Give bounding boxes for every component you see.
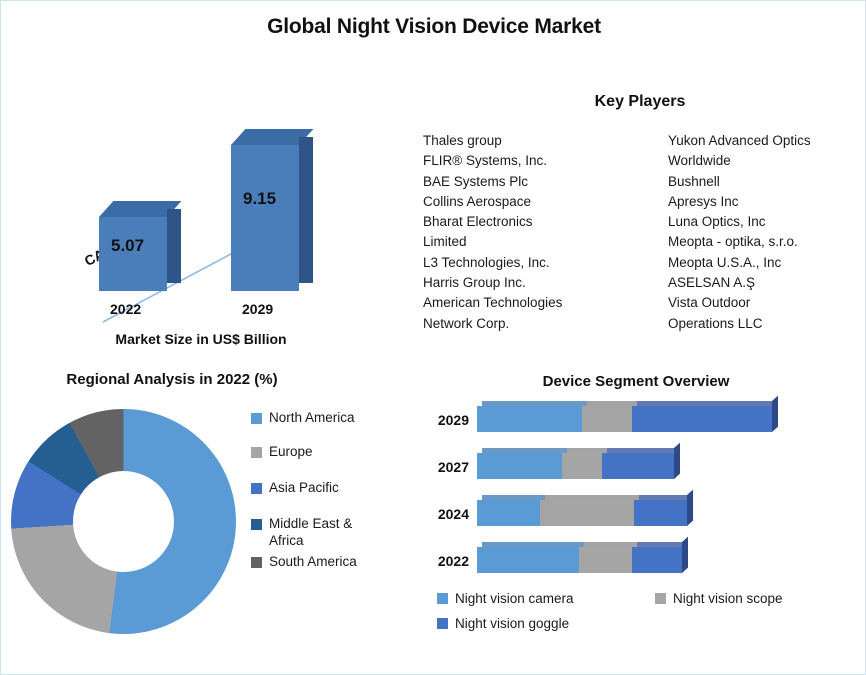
segment-camera (477, 406, 582, 432)
market-size-chart: CAGR 8.8% 5.07 2022 9.15 2029 (1, 111, 401, 361)
infographic-root: Global Night Vision Device Market CAGR 8… (0, 0, 866, 675)
legend-item-europe: Europe (251, 443, 411, 460)
regional-legend: North America Europe Asia Pacific Middle… (251, 409, 411, 587)
key-player-item: Bharat Electronics (423, 212, 622, 232)
key-player-item: Limited (423, 232, 622, 252)
legend-item-night-vision-goggle: Night vision goggle (437, 616, 655, 631)
segment-goggle (632, 547, 682, 573)
segment-front-face (477, 547, 579, 573)
legend-label: North America (269, 409, 355, 426)
segment-scope (540, 500, 634, 526)
bar-2022-year: 2022 (110, 301, 141, 317)
legend-swatch-icon (437, 618, 448, 629)
segment-camera (477, 547, 579, 573)
bar-2029 (231, 129, 299, 291)
legend-swatch-icon (251, 447, 262, 458)
donut-hole (73, 471, 174, 572)
segment-year-label: 2022 (409, 553, 469, 569)
segment-year-label: 2027 (409, 459, 469, 475)
legend-item-night-vision-camera: Night vision camera (437, 591, 655, 606)
legend-item-south-america: South America (251, 553, 411, 570)
key-player-item: FLIR® Systems, Inc. (423, 151, 622, 171)
segment-scope (582, 406, 632, 432)
segment-front-face (632, 406, 772, 432)
legend-swatch-icon (251, 413, 262, 424)
segment-bar-2027 (477, 453, 674, 479)
key-player-item: Meopta - optika, s.r.o. (668, 232, 866, 252)
legend-swatch-icon (251, 519, 262, 530)
key-player-item: Worldwide (668, 151, 866, 171)
legend-label: Middle East & Africa (269, 515, 389, 549)
legend-swatch-icon (251, 483, 262, 494)
key-player-item: Yukon Advanced Optics (668, 131, 866, 151)
segment-front-face (634, 500, 687, 526)
regional-donut-chart (11, 409, 251, 649)
segment-front-face (477, 500, 540, 526)
key-player-item: Meopta U.S.A., Inc (668, 253, 866, 273)
key-player-item: BAE Systems Plc (423, 172, 622, 192)
legend-label: Night vision goggle (455, 616, 569, 631)
segment-bar-2029 (477, 406, 772, 432)
segment-side-face (772, 396, 778, 432)
key-players-title: Key Players (413, 93, 866, 111)
segment-front-face (602, 453, 674, 479)
segment-goggle (634, 500, 687, 526)
bar-2029-side (299, 137, 313, 283)
key-player-item: L3 Technologies, Inc. (423, 253, 622, 273)
legend-label: Asia Pacific (269, 479, 339, 496)
segment-goggle (632, 406, 772, 432)
key-player-item: ASELSAN A.Ş (668, 273, 866, 293)
segment-legend-row: Night vision camera Night vision scope (437, 591, 866, 606)
key-player-item: Network Corp. (423, 314, 622, 334)
legend-swatch-icon (655, 593, 666, 604)
key-player-item: Bushnell (668, 172, 866, 192)
segment-bar-2022 (477, 547, 682, 573)
device-segment-title: Device Segment Overview (411, 373, 861, 390)
segment-camera (477, 500, 540, 526)
key-player-item: Luna Optics, Inc (668, 212, 866, 232)
segment-scope (562, 453, 602, 479)
segment-front-face (582, 406, 632, 432)
key-player-item: American Technologies (423, 293, 622, 313)
segment-goggle (602, 453, 674, 479)
market-size-caption: Market Size in US$ Billion (1, 331, 401, 347)
bar-2022-side (167, 209, 181, 283)
key-players-columns: Thales group FLIR® Systems, Inc. BAE Sys… (421, 131, 866, 334)
legend-label: Night vision camera (455, 591, 574, 606)
legend-label: Night vision scope (673, 591, 783, 606)
legend-item-asia-pacific: Asia Pacific (251, 479, 411, 496)
bar-2022-value: 5.07 (111, 236, 144, 256)
segment-camera (477, 453, 562, 479)
segment-year-label: 2029 (409, 412, 469, 428)
bar-2029-face (231, 145, 299, 291)
segment-front-face (562, 453, 602, 479)
legend-item-night-vision-scope: Night vision scope (655, 591, 783, 606)
segment-bar-2024 (477, 500, 687, 526)
key-player-item: Collins Aerospace (423, 192, 622, 212)
segment-side-face (674, 443, 680, 479)
device-segment-chart: 2029 2027 (405, 406, 865, 591)
regional-analysis-title: Regional Analysis in 2022 (%) (7, 371, 337, 388)
legend-label: South America (269, 553, 357, 570)
key-player-item: Harris Group Inc. (423, 273, 622, 293)
device-segment-legend: Night vision camera Night vision scope N… (437, 591, 866, 641)
segment-front-face (477, 453, 562, 479)
bar-2029-value: 9.15 (243, 189, 276, 209)
segment-front-face (477, 406, 582, 432)
key-player-item: Operations LLC (668, 314, 866, 334)
segment-side-face (687, 490, 693, 526)
legend-item-middle-east-africa: Middle East & Africa (251, 515, 411, 549)
page-title: Global Night Vision Device Market (1, 15, 866, 39)
bar-2029-year: 2029 (242, 301, 273, 317)
key-player-item: Vista Outdoor (668, 293, 866, 313)
segment-year-label: 2024 (409, 506, 469, 522)
legend-item-north-america: North America (251, 409, 411, 426)
segment-front-face (540, 500, 634, 526)
legend-label: Europe (269, 443, 313, 460)
key-player-item: Apresys Inc (668, 192, 866, 212)
legend-swatch-icon (251, 557, 262, 568)
segment-legend-row: Night vision goggle (437, 616, 866, 631)
key-player-item: Thales group (423, 131, 622, 151)
segment-front-face (632, 547, 682, 573)
segment-front-face (579, 547, 632, 573)
key-players-right-column: Yukon Advanced Optics Worldwide Bushnell… (646, 131, 866, 334)
legend-swatch-icon (437, 593, 448, 604)
segment-side-face (682, 537, 688, 573)
key-players-left-column: Thales group FLIR® Systems, Inc. BAE Sys… (421, 131, 622, 334)
segment-scope (579, 547, 632, 573)
